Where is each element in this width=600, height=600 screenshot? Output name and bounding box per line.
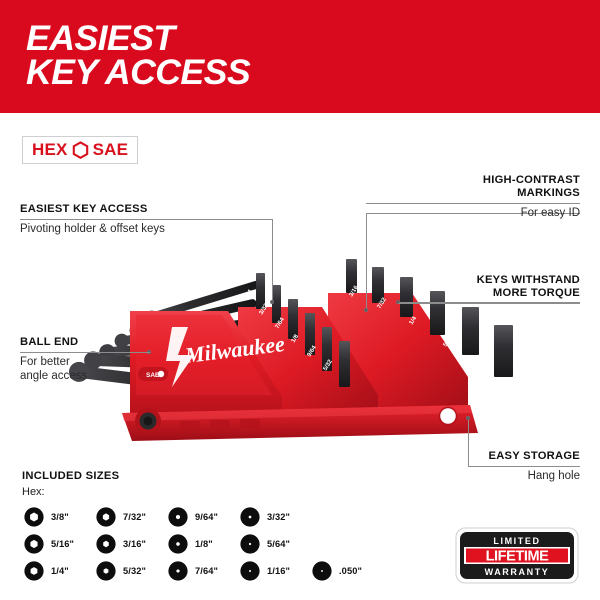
- infographic-page: EASIEST KEY ACCESS HEX SAE: [0, 0, 600, 600]
- callout-high-contrast-markings-title: HIGH-CONTRAST MARKINGS: [366, 174, 580, 200]
- warranty-bottom-label: WARRANTY: [485, 567, 550, 577]
- hex-size-icon: [166, 532, 190, 556]
- size-label: 7/32": [123, 512, 146, 522]
- callout-easiest-key-access-subtitle: Pivoting holder & offset keys: [20, 223, 273, 237]
- size-cell: .050": [310, 559, 382, 583]
- hex-sae-badge: HEX SAE: [22, 136, 138, 164]
- leader-dot-easy-storage: [466, 416, 470, 420]
- size-label: 3/16": [123, 539, 146, 549]
- callout-ball-end-title: BALL END: [20, 336, 150, 349]
- hex-size-icon: [310, 559, 334, 583]
- leader-dot-high-contrast: [364, 308, 368, 312]
- hex-sae-right-label: SAE: [93, 140, 129, 160]
- warranty-badge-graphic: LIMITED LIFETIME WARRANTY: [455, 527, 579, 584]
- callout-high-contrast-markings-rule: [366, 203, 580, 204]
- size-label: 1/4": [51, 566, 69, 576]
- size-cell: 3/32": [238, 505, 310, 529]
- size-label: 5/16": [51, 539, 74, 549]
- size-label: .050": [339, 566, 362, 576]
- key-holder-body: [122, 293, 478, 441]
- callout-keys-withstand-more-torque: KEYS WITHSTAND MORE TORQUE: [398, 274, 580, 304]
- callout-high-contrast-markings-subtitle: For easy ID: [366, 207, 580, 221]
- size-cell: 3/8": [22, 505, 94, 529]
- page-title: EASIEST KEY ACCESS: [26, 22, 250, 90]
- size-grid: 3/8"7/32"9/64"3/32"5/16"3/16"1/8"5/64"1/…: [22, 503, 422, 584]
- callout-keys-withstand-more-torque-rule: [398, 303, 580, 304]
- hex-size-icon: [238, 559, 262, 583]
- leader-line-high-contrast-v: [366, 213, 367, 311]
- hex-size-icon: [22, 505, 46, 529]
- size-label: 3/32": [267, 512, 290, 522]
- hex-size-icon: [22, 532, 46, 556]
- hex-size-icon: [22, 559, 46, 583]
- callout-easiest-key-access-title: EASIEST KEY ACCESS: [20, 203, 273, 216]
- callout-easiest-key-access: EASIEST KEY ACCESS Pivoting holder & off…: [20, 203, 273, 237]
- callout-ball-end: BALL END For better angle access: [20, 336, 150, 383]
- callout-keys-withstand-more-torque-title: KEYS WITHSTAND MORE TORQUE: [398, 274, 580, 300]
- size-label: 5/64": [267, 539, 290, 549]
- size-cell: 5/16": [22, 532, 94, 556]
- callout-easiest-key-access-rule: [20, 219, 273, 220]
- hex-size-icon: [238, 505, 262, 529]
- limited-lifetime-warranty-badge: LIMITED LIFETIME WARRANTY: [455, 527, 579, 584]
- size-cell: 5/32": [94, 559, 166, 583]
- callout-high-contrast-markings: HIGH-CONTRAST MARKINGS For easy ID: [366, 174, 580, 221]
- callout-easy-storage-subtitle: Hang hole: [468, 470, 580, 484]
- warranty-top-label: LIMITED: [493, 536, 540, 546]
- hex-size-icon: [94, 532, 118, 556]
- leader-dot-easiest-key-access: [270, 300, 274, 304]
- included-sizes-section: INCLUDED SIZES Hex: 3/8"7/32"9/64"3/32"5…: [22, 470, 422, 584]
- hex-size-icon: [94, 559, 118, 583]
- included-sizes-title: INCLUDED SIZES: [22, 470, 422, 482]
- size-label: 1/8": [195, 539, 213, 549]
- hex-size-icon: [166, 559, 190, 583]
- callout-easy-storage-title: EASY STORAGE: [468, 450, 580, 463]
- size-cell: 1/16": [238, 559, 310, 583]
- hex-sae-left-label: HEX: [32, 140, 68, 160]
- callout-ball-end-rule: [20, 352, 150, 353]
- callout-ball-end-subtitle: For better angle access: [20, 356, 150, 383]
- warranty-main-label: LIFETIME: [486, 549, 550, 565]
- size-cell: 1/8": [166, 532, 238, 556]
- hexagon-outline-icon: [72, 141, 89, 160]
- included-sizes-subtitle: Hex:: [22, 486, 422, 498]
- hex-size-icon: [238, 532, 262, 556]
- header-banner: EASIEST KEY ACCESS: [0, 0, 600, 113]
- size-label: 9/64": [195, 512, 218, 522]
- size-cell: 3/16": [94, 532, 166, 556]
- size-cell: 7/32": [94, 505, 166, 529]
- size-cell: 5/64": [238, 532, 310, 556]
- size-label: 5/32": [123, 566, 146, 576]
- callout-easy-storage: EASY STORAGE Hang hole: [468, 450, 580, 484]
- size-cell: 9/64": [166, 505, 238, 529]
- size-label: 3/8": [51, 512, 69, 522]
- hex-size-icon: [166, 505, 190, 529]
- svg-text:3/8: 3/8: [477, 361, 487, 372]
- size-label: 7/64": [195, 566, 218, 576]
- size-cell: 1/4": [22, 559, 94, 583]
- hex-size-icon: [94, 505, 118, 529]
- size-label: 1/16": [267, 566, 290, 576]
- size-cell: 7/64": [166, 559, 238, 583]
- callout-easy-storage-rule: [468, 466, 580, 467]
